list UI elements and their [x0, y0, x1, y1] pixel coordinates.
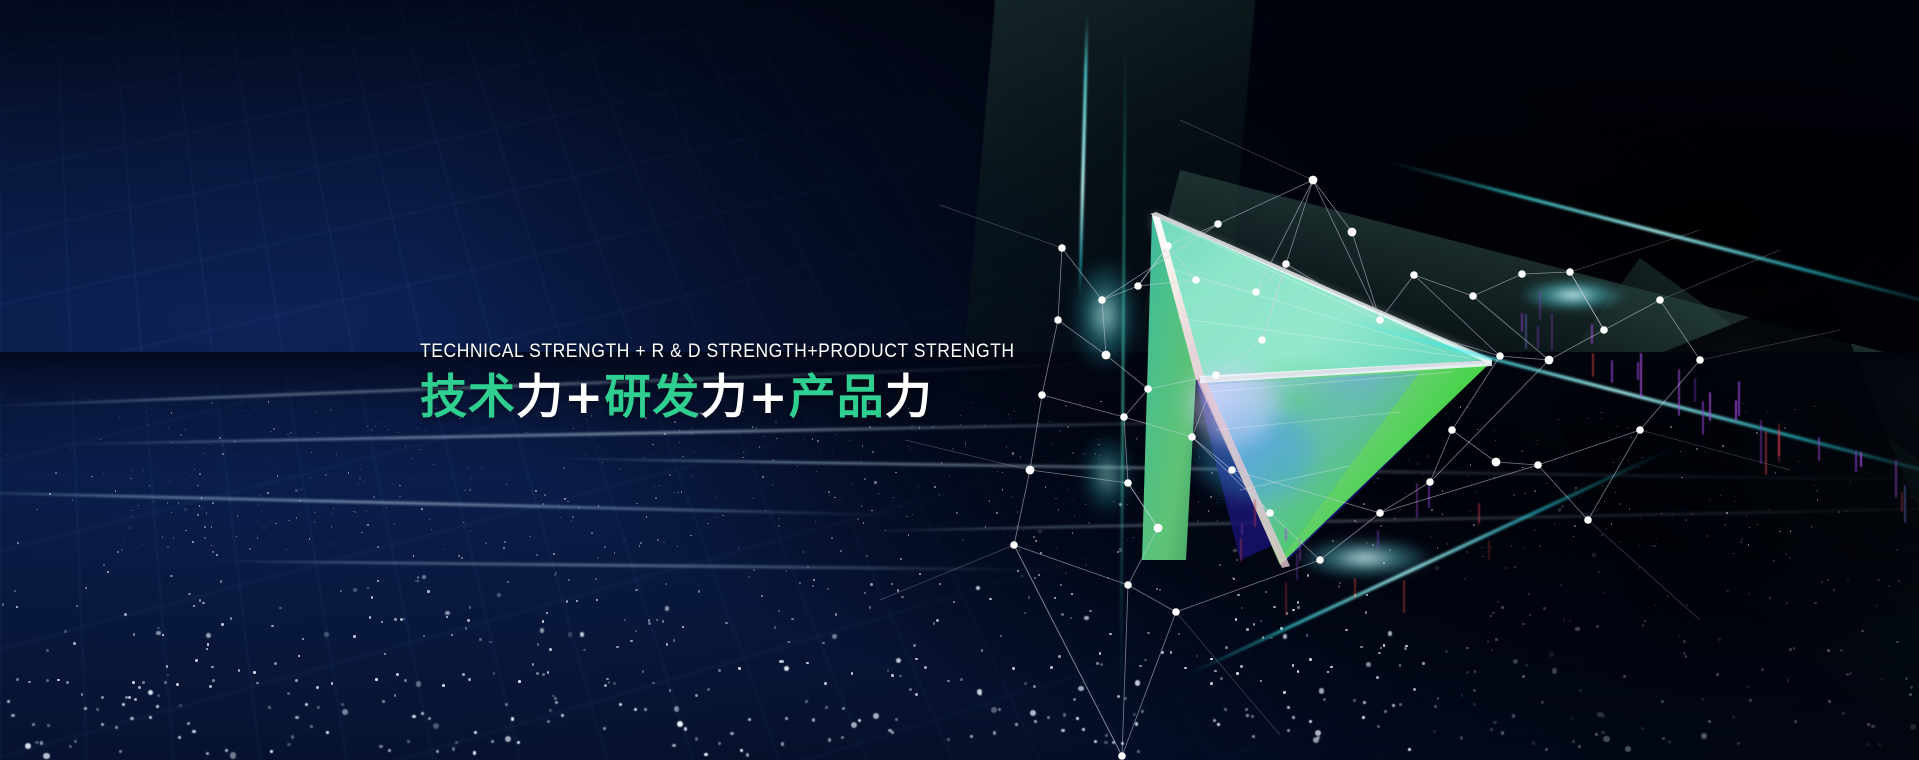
network-edge	[1128, 528, 1158, 585]
network-node	[1172, 608, 1180, 616]
network-edge	[1522, 272, 1570, 274]
network-edge	[1122, 585, 1128, 756]
network-edge	[1270, 513, 1320, 560]
network-edge	[1192, 437, 1232, 470]
network-edge	[1570, 230, 1700, 272]
network-node	[1098, 296, 1106, 304]
network-node	[1212, 371, 1220, 379]
network-node	[1492, 458, 1501, 467]
network-edge	[1180, 120, 1313, 180]
network-node	[1010, 541, 1018, 549]
network-edge	[1286, 264, 1380, 320]
headline-segment: 产品	[789, 370, 885, 425]
network-edge	[880, 545, 1014, 600]
network-node	[1258, 336, 1266, 344]
network-edge	[1414, 275, 1500, 356]
network-edge	[1286, 180, 1313, 264]
network-edge	[1570, 272, 1604, 330]
network-node	[1118, 752, 1126, 760]
network-edge	[1660, 300, 1700, 360]
network-edge	[1430, 360, 1549, 482]
hero-banner: TECHNICAL STRENGTH + R & D STRENGTH+PROD…	[0, 0, 1919, 760]
network-edge	[1168, 224, 1218, 246]
network-node	[1448, 426, 1456, 434]
network-edge	[1380, 275, 1414, 320]
network-node	[1134, 282, 1142, 290]
network-edge	[1030, 470, 1128, 483]
network-edge	[1430, 430, 1452, 482]
network-node	[1656, 296, 1664, 304]
network-edge	[940, 205, 1062, 248]
network-edge	[1352, 232, 1380, 320]
network-node	[1124, 479, 1132, 487]
headline-segment: 研发	[604, 370, 700, 425]
network-edge	[1452, 356, 1500, 430]
network-node	[1102, 351, 1111, 360]
network-edge	[1500, 356, 1549, 360]
network-edge	[1192, 437, 1270, 513]
network-node	[1282, 260, 1290, 268]
network-edge	[1168, 246, 1196, 280]
network-edge	[1106, 355, 1148, 389]
network-edge	[1218, 180, 1313, 224]
network-edge	[1138, 246, 1168, 286]
hero-text-block: TECHNICAL STRENGTH + R & D STRENGTH+PROD…	[420, 340, 1060, 425]
headline-segment: 力	[885, 370, 933, 425]
network-node	[1566, 268, 1574, 276]
network-edge	[1700, 330, 1840, 360]
network-edge	[1102, 300, 1106, 355]
network-node	[1252, 288, 1260, 296]
network-edge	[1124, 417, 1192, 437]
headline-segment: 技术	[420, 370, 516, 425]
network-node	[1120, 413, 1128, 421]
network-edge	[1176, 612, 1280, 735]
headline-segment: +	[564, 370, 604, 425]
network-node	[1214, 220, 1222, 228]
network-edge	[905, 440, 1030, 470]
network-edge	[1473, 296, 1549, 360]
network-node	[1316, 556, 1324, 564]
network-edge	[1452, 430, 1496, 462]
network-edge	[1380, 465, 1538, 513]
network-edge	[1122, 612, 1176, 756]
headline-segment: +	[748, 370, 788, 425]
network-node	[1228, 466, 1236, 474]
network-node	[1534, 461, 1542, 469]
eyebrow-text: TECHNICAL STRENGTH + R & D STRENGTH+PROD…	[420, 340, 996, 363]
network-edge	[1058, 248, 1062, 320]
network-node	[1469, 292, 1477, 300]
network-edge	[1058, 320, 1106, 355]
network-edge	[1640, 360, 1700, 430]
network-node	[1545, 356, 1554, 365]
network-edge	[1062, 248, 1102, 300]
network-edge	[1216, 340, 1262, 375]
network-node	[1600, 326, 1608, 334]
network-node	[1426, 478, 1434, 486]
network-edge	[1320, 513, 1380, 560]
network-edge	[1380, 320, 1500, 356]
network-edge	[1128, 585, 1176, 612]
network-edge	[1176, 560, 1320, 612]
network-node	[1124, 581, 1132, 589]
network-node	[1154, 524, 1163, 533]
network-edge	[1148, 375, 1216, 389]
network-edge	[1102, 224, 1218, 300]
network-edge	[1496, 462, 1538, 465]
network-node	[1376, 509, 1384, 517]
network-edge	[1588, 430, 1640, 520]
network-node	[1309, 176, 1318, 185]
network-edge	[1313, 180, 1352, 232]
network-edge	[1588, 520, 1700, 620]
network-node	[1584, 516, 1592, 524]
network-edge	[1414, 275, 1473, 296]
network-node	[1410, 271, 1418, 279]
network-node	[1054, 316, 1062, 324]
network-node	[1496, 352, 1504, 360]
network-node	[1348, 228, 1357, 237]
network-node	[1376, 316, 1384, 324]
network-edge	[1128, 483, 1158, 528]
network-node	[1636, 426, 1644, 434]
network-edge	[1538, 465, 1588, 520]
network-node	[1144, 385, 1152, 393]
network-edge	[1660, 250, 1780, 300]
network-edge	[1124, 389, 1148, 417]
network-edge	[1192, 375, 1216, 437]
network-edge	[1232, 470, 1380, 513]
network-edge	[1538, 430, 1640, 465]
network-node	[1518, 270, 1526, 278]
network-node	[1164, 242, 1172, 250]
network-edge	[1604, 300, 1660, 330]
network-edge	[1124, 417, 1128, 483]
network-node	[1058, 244, 1066, 252]
network-edge	[1014, 470, 1030, 545]
network-edge	[1640, 430, 1790, 470]
network-edge	[1014, 545, 1122, 756]
network-edge	[1232, 470, 1270, 513]
network-node	[1192, 276, 1200, 284]
network-edge	[1473, 274, 1522, 296]
network-edge	[1313, 180, 1380, 320]
network-edge	[1380, 482, 1430, 513]
network-node	[1188, 433, 1196, 441]
network-node	[1026, 466, 1035, 475]
network-edge	[1138, 280, 1196, 286]
network-edge	[1196, 280, 1256, 292]
network-node	[1266, 509, 1274, 517]
network-edge	[1549, 330, 1604, 360]
headline-segment: 力	[516, 370, 564, 425]
network-node	[1696, 356, 1704, 364]
headline-segment: 力	[700, 370, 748, 425]
page-title: 技术力+研发力+产品力	[420, 370, 1060, 425]
